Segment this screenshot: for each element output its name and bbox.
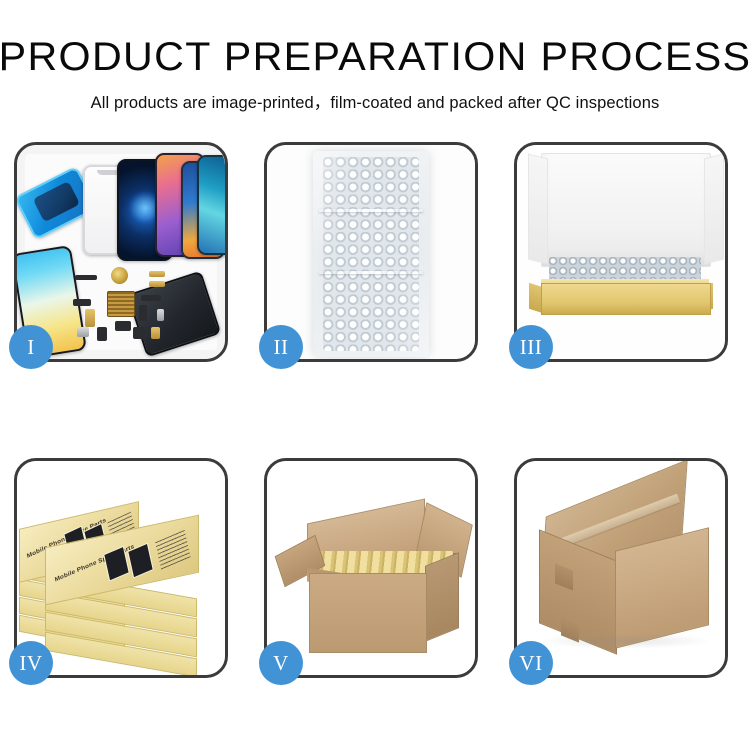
page-subtitle: All products are image-printed，film-coat… xyxy=(0,78,750,113)
panel-step-2[interactable]: II xyxy=(264,142,478,362)
panel-step-3[interactable]: III xyxy=(514,142,728,362)
panel-step-6-image xyxy=(517,461,725,675)
step-badge-2: II xyxy=(259,325,303,369)
step-badge-6: VI xyxy=(509,641,553,685)
box-stack: Mobile Phone Spare Parts Mobile Phone Sp… xyxy=(17,479,225,669)
process-step-grid: I II xyxy=(14,142,736,678)
open-shipping-carton-icon xyxy=(281,491,467,663)
panel-step-4-image: Mobile Phone Spare Parts Mobile Phone Sp… xyxy=(17,461,225,675)
sealed-shipping-carton-icon xyxy=(533,483,717,659)
panel-step-1[interactable]: I xyxy=(14,142,228,362)
kraft-tray-icon xyxy=(541,283,711,315)
inner-tray-scene xyxy=(517,145,725,359)
spare-parts-cluster xyxy=(71,265,191,353)
panel-step-3-image xyxy=(517,145,725,359)
panel-step-6[interactable]: VI xyxy=(514,458,728,678)
step-badge-3: III xyxy=(509,325,553,369)
header: PRODUCT PREPARATION PROCESS All products… xyxy=(0,0,750,113)
phone-parts-scene xyxy=(17,145,225,359)
step-badge-1: I xyxy=(9,325,53,369)
carton-front-face xyxy=(309,573,427,653)
retail-box-stack-scene: Mobile Phone Spare Parts Mobile Phone Sp… xyxy=(17,461,225,675)
bubble-wrap-pouch-icon xyxy=(313,151,429,357)
sealed-carton-scene xyxy=(517,461,725,675)
panel-step-1-image xyxy=(17,145,225,359)
bubble-wrap-scene xyxy=(267,145,475,359)
carton-shadow xyxy=(537,633,713,649)
page-title: PRODUCT PREPARATION PROCESS xyxy=(0,0,750,78)
panel-step-4[interactable]: Mobile Phone Spare Parts Mobile Phone Sp… xyxy=(14,458,228,678)
step-badge-5: V xyxy=(259,641,303,685)
step-badge-4: IV xyxy=(9,641,53,685)
panel-step-5[interactable]: V xyxy=(264,458,478,678)
phone-display-teal-icon xyxy=(197,155,225,255)
carton-side-right xyxy=(425,552,459,642)
tray-lid-icon xyxy=(541,153,711,267)
open-carton-scene xyxy=(267,461,475,675)
pouch-sheen xyxy=(313,151,429,357)
panel-step-5-image xyxy=(267,461,475,675)
panel-step-2-image xyxy=(267,145,475,359)
